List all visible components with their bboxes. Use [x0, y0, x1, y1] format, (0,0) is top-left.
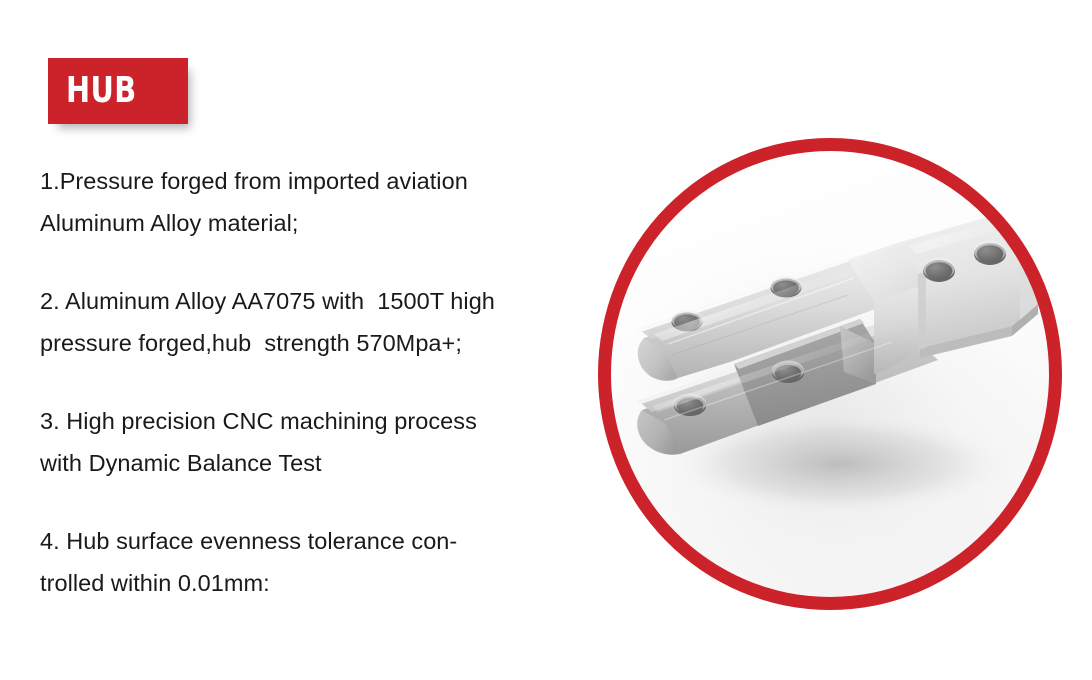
product-photo-frame: [598, 138, 1062, 610]
feature-item-4: 4. Hub surface evenness tolerance con- t…: [40, 520, 580, 604]
feature-item-2: 2. Aluminum Alloy AA7075 with 1500T high…: [40, 280, 580, 364]
product-photo: [608, 148, 1052, 600]
feature-list: 1.Pressure forged from imported aviation…: [40, 160, 580, 604]
bore-hole: [923, 257, 955, 282]
hub-bracket-illustration: [608, 148, 1052, 600]
hub-badge: HUB: [48, 58, 188, 124]
feature-item-1: 1.Pressure forged from imported aviation…: [40, 160, 580, 244]
feature-item-3: 3. High precision CNC machining process …: [40, 400, 580, 484]
bore-hole: [974, 240, 1006, 265]
hub-badge-label: HUB: [66, 73, 137, 109]
product-feature-panel: HUB 1.Pressure forged from imported avia…: [0, 0, 1092, 680]
